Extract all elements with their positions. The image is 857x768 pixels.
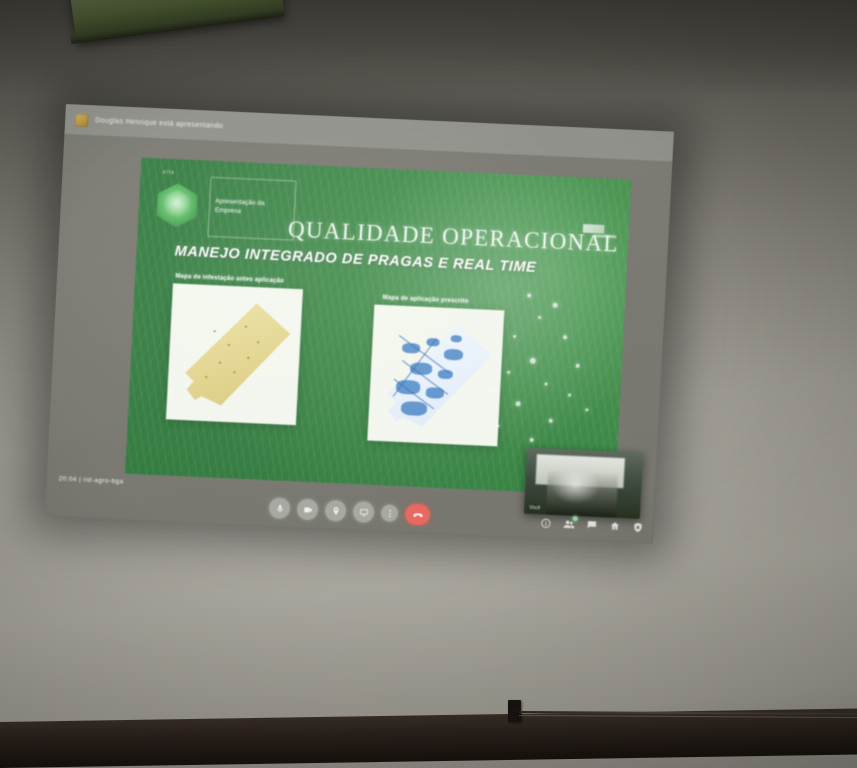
participants-badge (573, 516, 578, 521)
microphone-button[interactable] (268, 497, 290, 519)
field-polygon-blue (378, 321, 493, 429)
room-photograph: Douglas Henrique está apresentando alta … (0, 0, 857, 768)
chat-icon (586, 519, 598, 531)
more-options-button[interactable] (381, 504, 399, 522)
camera-button[interactable] (296, 498, 318, 520)
meeting-details-button[interactable] (539, 516, 552, 529)
camera-icon (302, 504, 313, 514)
map-application-prescription (367, 304, 504, 446)
field-polygon-yellow (177, 300, 292, 408)
projected-meet-window[interactable]: Douglas Henrique está apresentando alta … (45, 104, 674, 544)
info-icon (540, 517, 552, 529)
captions-icon (330, 505, 341, 515)
present-screen-icon (358, 507, 369, 517)
hangup-button[interactable] (404, 503, 430, 525)
mic-icon (274, 503, 285, 513)
more-vertical-icon (384, 508, 395, 518)
slides-favicon (75, 113, 89, 127)
meeting-meta-label: 20:04 | rid-agro-bga (58, 476, 123, 486)
projection-area: Douglas Henrique está apresentando alta … (0, 0, 857, 768)
meet-right-icon-row (539, 516, 644, 533)
presentation-slide[interactable]: alta Apresentação da Empresa QUALIDADE O… (125, 158, 631, 496)
presenting-banner-label: Douglas Henrique está apresentando (95, 117, 223, 130)
activities-icon (609, 520, 621, 532)
chat-button[interactable] (585, 519, 598, 532)
logo-tagline: alta (163, 170, 175, 177)
phone-hangup-icon (411, 508, 424, 521)
meet-control-row (268, 497, 430, 525)
baseboard (0, 709, 857, 768)
company-subtitle-text: Apresentação da Empresa (215, 197, 288, 218)
activities-button[interactable] (608, 520, 621, 533)
shield-lock-icon (632, 521, 644, 533)
field-fill-yellow (177, 300, 292, 408)
map-pest-infestation (166, 283, 303, 425)
participants-button[interactable] (562, 518, 575, 531)
meet-stage: alta Apresentação da Empresa QUALIDADE O… (45, 134, 673, 544)
host-controls-button[interactable] (631, 521, 644, 534)
captions-button[interactable] (324, 500, 346, 522)
present-button[interactable] (352, 501, 374, 523)
